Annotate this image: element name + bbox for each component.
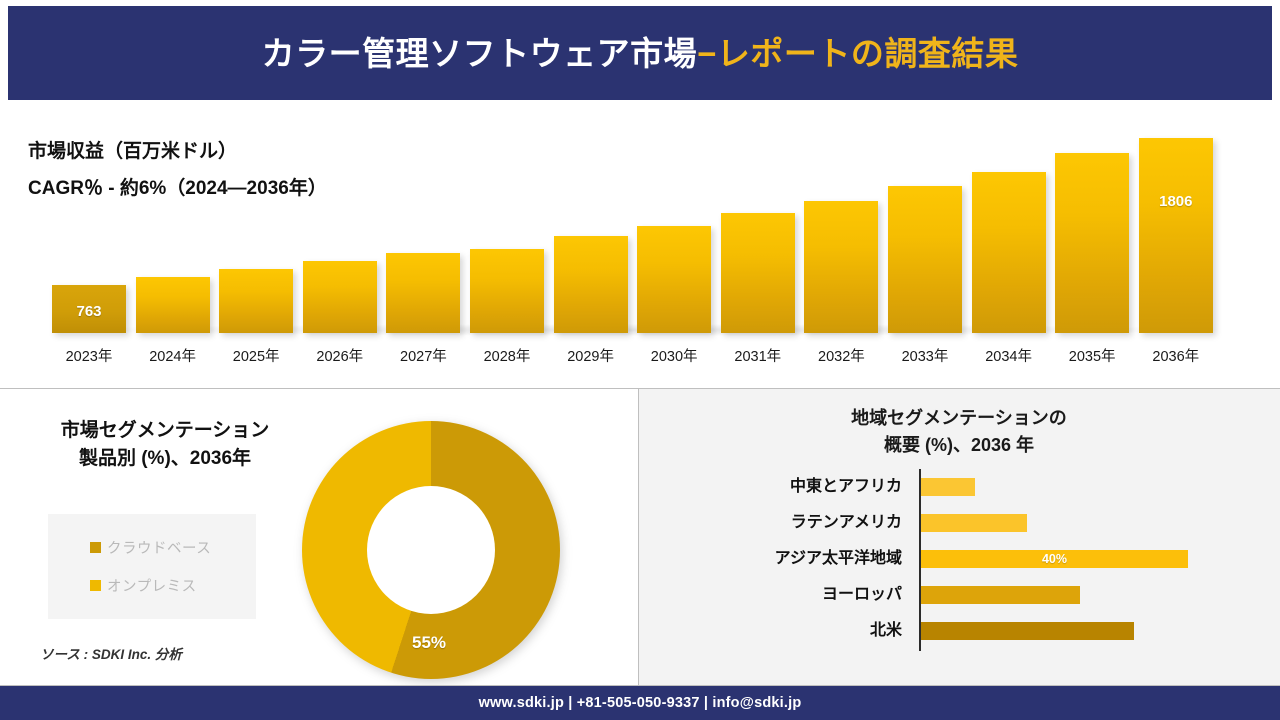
- revenue-bar-value-label: 1806: [1139, 193, 1213, 210]
- region-bar-label: ラテンアメリカ: [662, 509, 902, 536]
- region-bar: [921, 586, 1080, 604]
- revenue-bar-year-label: 2032年: [798, 345, 884, 366]
- page-title-main: カラー管理ソフトウェア市場: [262, 35, 698, 72]
- revenue-bar-column: 2024年: [136, 277, 210, 333]
- revenue-bar-column: 2026年: [303, 261, 377, 333]
- revenue-bar-year-label: 2035年: [1049, 345, 1135, 366]
- region-bar: [921, 514, 1027, 532]
- revenue-bar-year-label: 2033年: [882, 345, 968, 366]
- region-bar-label: 北米: [662, 617, 902, 644]
- segmentation-title-line1: 市場セグメンテーション: [30, 417, 300, 445]
- revenue-bar: 1806: [1139, 138, 1213, 333]
- region-title-line2: 概要 (%)、2036 年: [699, 432, 1219, 459]
- revenue-bar-year-label: 2025年: [213, 345, 299, 366]
- revenue-bar: [804, 201, 878, 333]
- donut-hole: [367, 486, 495, 614]
- revenue-bar-column: 2028年: [470, 249, 544, 333]
- region-title: 地域セグメンテーションの 概要 (%)、2036 年: [699, 405, 1219, 459]
- region-bar-row: 中東とアフリカ: [639, 473, 1280, 500]
- revenue-bar-year-label: 2027年: [380, 345, 466, 366]
- revenue-bar-column: 2031年: [721, 213, 795, 333]
- revenue-bar: [721, 213, 795, 333]
- page-title: カラー管理ソフトウェア市場−レポートの調査結果: [262, 37, 1019, 70]
- revenue-bar: [637, 226, 711, 333]
- revenue-bar: [888, 186, 962, 333]
- revenue-bar-value-label: 763: [52, 303, 126, 320]
- region-bar-value-label: 40%: [921, 550, 1188, 568]
- revenue-bar-column: 2033年: [888, 186, 962, 333]
- legend-label: クラウドベース: [107, 537, 211, 558]
- legend-item[interactable]: オンプレミス: [90, 575, 256, 596]
- revenue-bar-year-label: 2031年: [715, 345, 801, 366]
- revenue-bar-chart: 7632023年2024年2025年2026年2027年2028年2029年20…: [0, 100, 1280, 388]
- revenue-bar-column: 2030年: [637, 226, 711, 333]
- revenue-bar-year-label: 2036年: [1133, 345, 1219, 366]
- source-note: ソース : SDKI Inc. 分析: [40, 643, 182, 663]
- region-panel: 地域セグメンテーションの 概要 (%)、2036 年 中東とアフリカラテンアメリ…: [639, 389, 1280, 685]
- legend-item[interactable]: クラウドベース: [90, 537, 256, 558]
- legend-swatch-icon: [90, 580, 101, 591]
- revenue-bar: [219, 269, 293, 333]
- page-footer: www.sdki.jp | +81-505-050-9337 | info@sd…: [0, 686, 1280, 720]
- segmentation-title-line2: 製品別 (%)、2036年: [30, 445, 300, 473]
- page-header: カラー管理ソフトウェア市場−レポートの調査結果: [8, 6, 1272, 100]
- legend-swatch-icon: [90, 542, 101, 553]
- revenue-bar: [972, 172, 1046, 333]
- region-bar-row: アジア太平洋地域40%: [639, 545, 1280, 572]
- segmentation-title: 市場セグメンテーション 製品別 (%)、2036年: [30, 417, 300, 472]
- revenue-bar-year-label: 2028年: [464, 345, 550, 366]
- region-bar-label: アジア太平洋地域: [662, 545, 902, 572]
- segmentation-panel: 市場セグメンテーション 製品別 (%)、2036年 クラウドベースオンプレミス …: [0, 389, 638, 685]
- revenue-bar-year-label: 2029年: [548, 345, 634, 366]
- revenue-bar-year-label: 2026年: [297, 345, 383, 366]
- revenue-bar-column: 2027年: [386, 253, 460, 333]
- region-bar-chart: 中東とアフリカラテンアメリカアジア太平洋地域40%ヨーロッパ北米: [639, 469, 1280, 665]
- infographic-page: カラー管理ソフトウェア市場−レポートの調査結果 市場収益（百万米ドル） CAGR…: [0, 0, 1280, 720]
- revenue-bar: [303, 261, 377, 333]
- region-bar: 40%: [921, 550, 1188, 568]
- revenue-bar-column: 2034年: [972, 172, 1046, 333]
- region-bar: [921, 478, 975, 496]
- region-bar-row: ヨーロッパ: [639, 581, 1280, 608]
- revenue-bar: [1055, 153, 1129, 333]
- segmentation-legend: クラウドベースオンプレミス: [48, 514, 256, 619]
- revenue-bar-year-label: 2030年: [631, 345, 717, 366]
- region-bar-label: 中東とアフリカ: [662, 473, 902, 500]
- region-title-line1: 地域セグメンテーションの: [699, 405, 1219, 432]
- region-bar-row: 北米: [639, 617, 1280, 644]
- revenue-bar: [386, 253, 460, 333]
- revenue-bar-column: 2035年: [1055, 153, 1129, 333]
- donut-slice-label: 55%: [394, 633, 464, 653]
- segmentation-donut-chart: 55%: [302, 421, 560, 679]
- revenue-bar-column: 2029年: [554, 236, 628, 333]
- region-bar-label: ヨーロッパ: [662, 581, 902, 608]
- revenue-bar-column: 18062036年: [1139, 138, 1213, 333]
- revenue-bar: [554, 236, 628, 333]
- revenue-bar-year-label: 2034年: [966, 345, 1052, 366]
- revenue-bar-year-label: 2024年: [130, 345, 216, 366]
- revenue-bar-column: 7632023年: [52, 285, 126, 333]
- revenue-bar-column: 2025年: [219, 269, 293, 333]
- revenue-bar: [136, 277, 210, 333]
- revenue-chart-section: 市場収益（百万米ドル） CAGR％ - 約6%（2024―2036年） 7632…: [0, 100, 1280, 388]
- legend-label: オンプレミス: [107, 575, 197, 596]
- footer-contact-text: www.sdki.jp | +81-505-050-9337 | info@sd…: [479, 695, 802, 711]
- revenue-bar-year-label: 2023年: [46, 345, 132, 366]
- region-bar-row: ラテンアメリカ: [639, 509, 1280, 536]
- page-title-accent: −レポートの調査結果: [697, 35, 1018, 72]
- revenue-bar: 763: [52, 285, 126, 333]
- revenue-bar-column: 2032年: [804, 201, 878, 333]
- revenue-bar: [470, 249, 544, 333]
- region-bar: [921, 622, 1134, 640]
